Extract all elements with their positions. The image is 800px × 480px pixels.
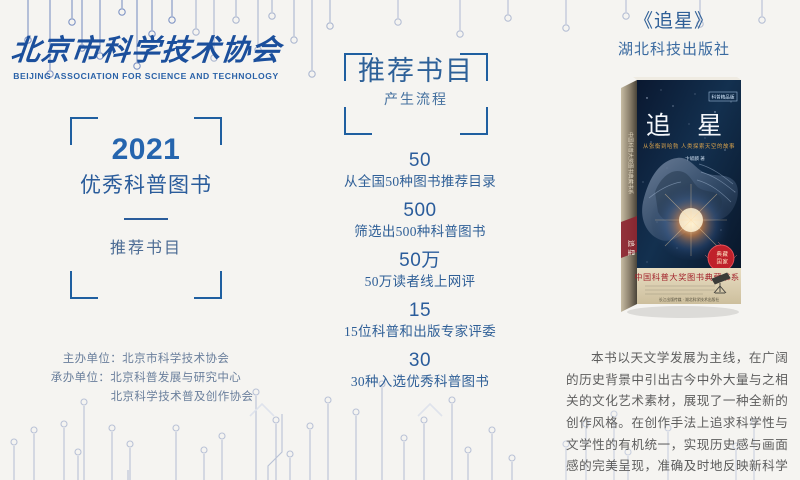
svg-text:从张衡到哈勃 人类探索天空的故事: 从张衡到哈勃 人类探索天空的故事 bbox=[643, 142, 735, 150]
divider bbox=[124, 218, 168, 220]
organizers-block: 主办单位：北京市科学技术协会 承办单位：北京科普发展与研究中心 北京科学技术普及… bbox=[0, 350, 292, 407]
process-step: 50万 50万读者线上网评 bbox=[292, 250, 548, 291]
frame-corner-bottom-right-icon bbox=[194, 271, 222, 299]
step-number: 50万 bbox=[292, 250, 548, 273]
step-number: 15 bbox=[292, 300, 548, 323]
book-publisher: 湖北科技出版社 bbox=[548, 38, 800, 59]
poster-canvas: 北京市科学技术协会 BEIJING ASSOCIATION FOR SCIENC… bbox=[0, 0, 800, 480]
book-description: 本书以天文学发展为主线，在广阔的历史背景中引出古今中外大量与之相关的文化艺术素材… bbox=[566, 348, 788, 480]
process-step: 500 筛选出500种科普图书 bbox=[292, 200, 548, 241]
organizer-line: 北京科学技术普及创作协会 bbox=[0, 388, 292, 407]
left-panel: 北京市科学技术协会 BEIJING ASSOCIATION FOR SCIENC… bbox=[0, 0, 292, 480]
step-description: 30种入选优秀科普图书 bbox=[292, 373, 548, 391]
process-subheading: 产生流程 bbox=[344, 89, 488, 109]
svg-text:追 星: 追 星 bbox=[627, 240, 636, 256]
logo-english-name: BEIJING ASSOCIATION FOR SCIENCE AND TECH… bbox=[0, 71, 292, 81]
frame-corner-bottom-left-icon bbox=[70, 271, 98, 299]
process-step: 50 从全国50种图书推荐目录 bbox=[292, 150, 548, 191]
process-frame: 推荐书目 产生流程 bbox=[344, 53, 488, 135]
svg-text:藏: 藏 bbox=[723, 250, 729, 258]
organizer-line: 主办单位：北京市科学技术协会 bbox=[0, 350, 292, 369]
organizer-line: 承办单位：北京科普发展与研究中心 bbox=[0, 369, 292, 388]
organization-logo: 北京市科学技术协会 BEIJING ASSOCIATION FOR SCIENC… bbox=[0, 36, 292, 81]
process-step: 30 30种入选优秀科普图书 bbox=[292, 350, 548, 391]
svg-text:追 星: 追 星 bbox=[646, 112, 732, 140]
svg-text:家: 家 bbox=[723, 258, 729, 266]
frame-corner-bottom-right-icon bbox=[460, 107, 488, 135]
award-frame: 2021 优秀科普图书 推荐书目 bbox=[70, 117, 222, 299]
svg-text:国: 国 bbox=[717, 259, 722, 266]
award-year: 2021 bbox=[70, 135, 222, 165]
book-title: 《追星》 bbox=[548, 6, 800, 33]
svg-text:卞毓麟 著: 卞毓麟 著 bbox=[685, 155, 705, 162]
step-description: 筛选出500种科普图书 bbox=[292, 223, 548, 241]
step-description: 15位科普和出版专家评委 bbox=[292, 323, 548, 341]
svg-text:中国科普大奖图书典藏书系: 中国科普大奖图书典藏书系 bbox=[627, 132, 635, 194]
process-heading: 推荐书目 bbox=[344, 56, 488, 87]
frame-corner-bottom-left-icon bbox=[344, 107, 372, 135]
book-cover-image: 中国科普大奖图书典藏书系 追 星 bbox=[603, 72, 751, 320]
step-number: 50 bbox=[292, 150, 548, 173]
logo-chinese-name: 北京市科学技术协会 bbox=[0, 36, 294, 66]
svg-text:长江出版传媒 · 湖北科学技术出版社: 长江出版传媒 · 湖北科学技术出版社 bbox=[659, 297, 720, 302]
award-subtitle: 推荐书目 bbox=[70, 234, 222, 258]
svg-text:科普精品版: 科普精品版 bbox=[712, 94, 735, 101]
process-step: 15 15位科普和出版专家评委 bbox=[292, 300, 548, 341]
award-title: 优秀科普图书 bbox=[70, 174, 222, 197]
step-description: 50万读者线上网评 bbox=[292, 273, 548, 291]
step-number: 500 bbox=[292, 200, 548, 223]
process-steps-list: 50 从全国50种图书推荐目录 500 筛选出500种科普图书 50万 50万读… bbox=[292, 150, 548, 400]
step-description: 从全国50种图书推荐目录 bbox=[292, 173, 548, 191]
step-number: 30 bbox=[292, 350, 548, 373]
